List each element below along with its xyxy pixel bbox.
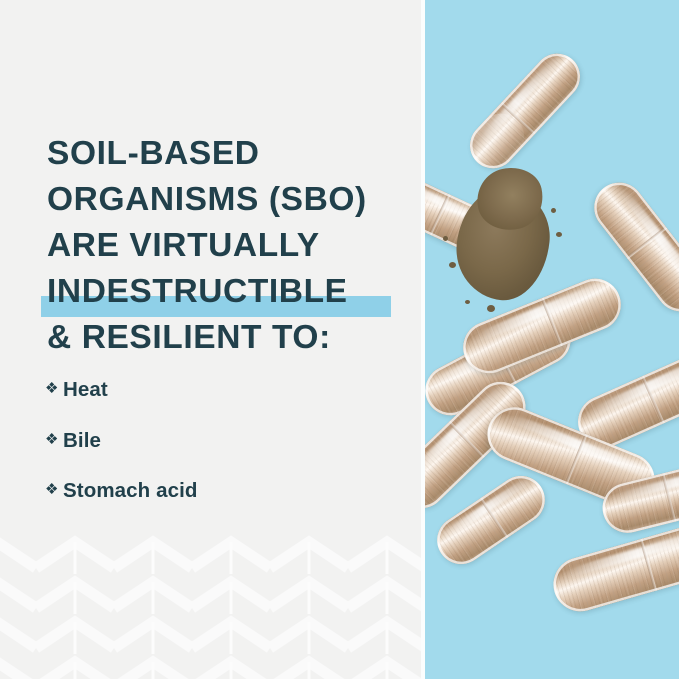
- product-photo-panel: [425, 0, 679, 679]
- headline-block: SOIL-BASED ORGANISMS (SBO) ARE VIRTUALLY…: [47, 131, 412, 361]
- diamond-bullet-icon: ❖: [45, 477, 63, 503]
- capsule-highlight: [616, 184, 679, 294]
- diamond-bullet-icon: ❖: [45, 427, 63, 453]
- capsule-seam: [639, 539, 657, 592]
- list-item-label: Heat: [63, 377, 108, 403]
- headline-line-1: SOIL-BASED: [47, 131, 412, 177]
- powder-crumb: [443, 236, 448, 241]
- capsule-seam: [541, 297, 563, 346]
- capsule-seam: [565, 433, 588, 484]
- powder-crumb: [556, 232, 562, 237]
- list-item: ❖ Heat: [45, 377, 385, 403]
- capsule-highlight: [582, 351, 679, 421]
- capsule-cap: [460, 104, 533, 178]
- promo-graphic: SOIL-BASED ORGANISMS (SBO) ARE VIRTUALLY…: [0, 0, 679, 679]
- capsule-seam: [661, 473, 676, 522]
- capsule-seam: [500, 102, 536, 136]
- left-content-panel: SOIL-BASED ORGANISMS (SBO) ARE VIRTUALLY…: [0, 0, 421, 679]
- headline-line-4-text: INDESTRUCTIBLE: [47, 273, 348, 310]
- capsule-seam: [641, 375, 665, 424]
- list-item-label: Bile: [63, 428, 101, 454]
- powder-crumb: [449, 262, 456, 268]
- list-item-label: Stomach acid: [63, 478, 198, 504]
- headline-line-4-highlighted: INDESTRUCTIBLE: [47, 269, 412, 315]
- capsule-highlight: [471, 55, 562, 151]
- chevron-pattern-decoration: [0, 534, 421, 679]
- capsule-seam: [479, 497, 508, 538]
- headline-line-5: & RESILIENT TO:: [47, 315, 412, 361]
- capsule-seam: [626, 226, 667, 259]
- list-item: ❖ Stomach acid: [45, 478, 385, 504]
- capsule-open-top: [460, 44, 589, 178]
- diamond-bullet-icon: ❖: [45, 376, 63, 402]
- capsule-seam: [429, 193, 451, 235]
- capsule-seam: [448, 421, 485, 459]
- powder-crumb: [551, 208, 556, 213]
- headline-line-3: ARE VIRTUALLY: [47, 223, 412, 269]
- benefits-list: ❖ Heat ❖ Bile ❖ Stomach acid: [45, 377, 385, 529]
- headline-line-2: ORGANISMS (SBO): [47, 177, 412, 223]
- list-item: ❖ Bile: [45, 428, 385, 454]
- powder-crumb: [465, 300, 470, 304]
- powder-crumb: [487, 305, 495, 312]
- capsule-powder-fill: [460, 44, 589, 178]
